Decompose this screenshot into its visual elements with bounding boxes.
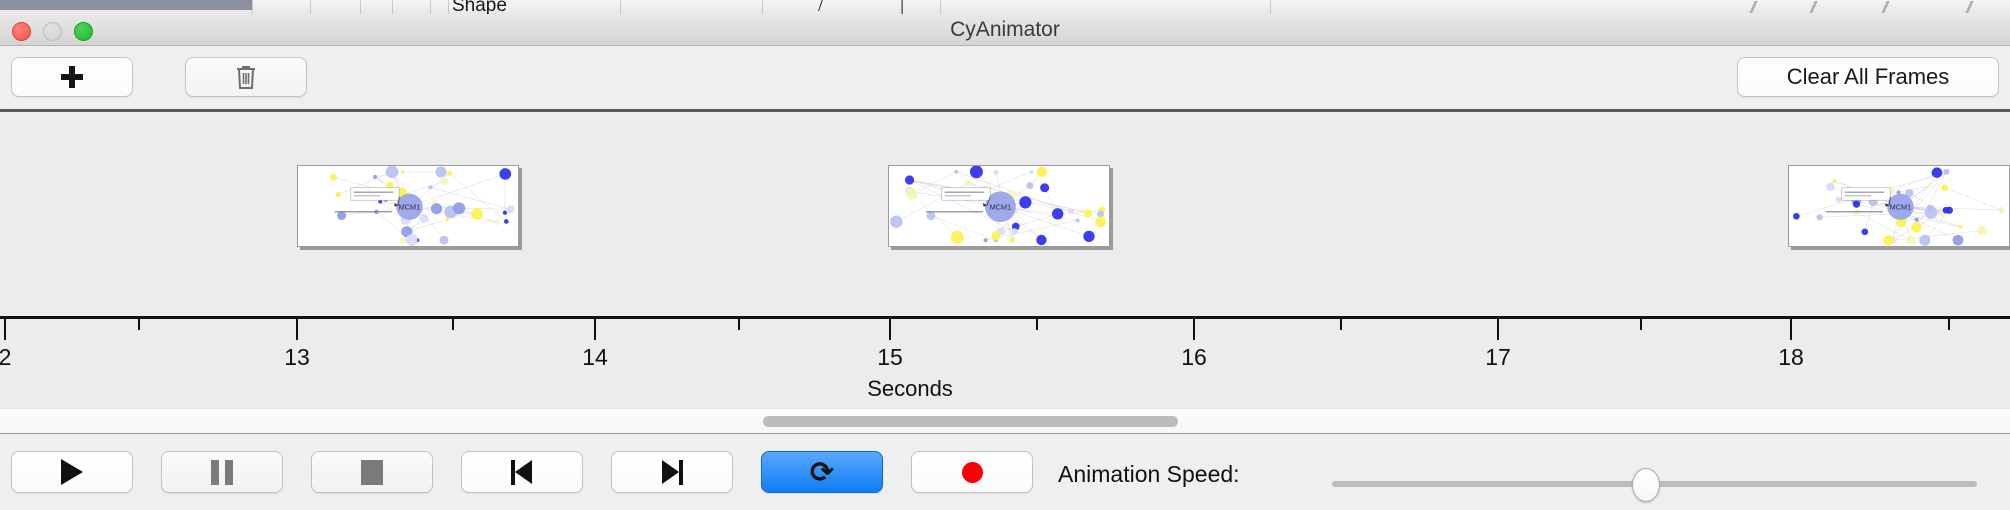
background-window-strip: Shape /| [0, 0, 2010, 14]
background-glyph: | [900, 0, 904, 14]
background-chevron-icon [1881, 1, 1900, 13]
delete-frame-button[interactable] [185, 57, 307, 97]
background-divider [1270, 0, 1271, 14]
svg-text:MCM1: MCM1 [1890, 203, 1912, 212]
clear-all-frames-button[interactable]: Clear All Frames [1737, 57, 1999, 97]
timeline-frame-thumbnail[interactable]: MCM1 [1788, 165, 2010, 247]
ruler-tick [1497, 319, 1499, 340]
background-divider [310, 0, 311, 14]
background-divider [252, 0, 253, 14]
background-divider [762, 0, 763, 14]
ruler-axis-title: Seconds [0, 376, 2010, 402]
ruler-tick [594, 319, 596, 340]
timeline-ruler: 2131415161718 Seconds [0, 316, 2010, 398]
play-icon [61, 459, 83, 485]
pause-icon [211, 460, 233, 485]
cyanimator-window: Shape /| CyAnimator Clear All Frames [0, 0, 2010, 510]
scrollbar-thumb[interactable] [763, 416, 1178, 427]
animation-speed-slider-thumb[interactable] [1632, 468, 1660, 502]
next-frame-button[interactable] [611, 451, 733, 493]
background-divider [940, 0, 941, 14]
svg-text:MCM1: MCM1 [399, 203, 421, 212]
trash-icon [236, 65, 256, 89]
ruler-tick [1640, 319, 1642, 330]
ruler-tick [1193, 319, 1195, 340]
loop-button[interactable]: ⟳ [761, 451, 883, 493]
pause-button[interactable] [161, 451, 283, 493]
animation-speed-label: Animation Speed: [1058, 461, 1240, 488]
ruler-tick [1790, 319, 1792, 340]
playback-control-bar: ⟳ Animation Speed: [0, 435, 2010, 510]
ruler-tick-label: 14 [582, 344, 608, 371]
stop-button[interactable] [311, 451, 433, 493]
ruler-tick-label: 16 [1181, 344, 1207, 371]
ruler-axis-title-text: Seconds [867, 376, 953, 401]
play-button[interactable] [11, 451, 133, 493]
ruler-tick-label: 15 [877, 344, 903, 371]
background-chevron-icon [1749, 1, 1768, 13]
skip-back-icon [511, 460, 533, 485]
record-icon [962, 462, 983, 483]
ruler-tick [1340, 319, 1342, 330]
record-button[interactable] [911, 451, 1033, 493]
add-frame-button[interactable] [11, 57, 133, 97]
window-title: CyAnimator [0, 14, 2010, 46]
ruler-tick [889, 319, 891, 340]
previous-frame-button[interactable] [461, 451, 583, 493]
background-dark-tab [0, 0, 252, 10]
background-divider [360, 0, 361, 14]
toolbar: Clear All Frames [0, 46, 2010, 109]
stop-icon [361, 460, 383, 485]
ruler-tick [296, 319, 298, 340]
ruler-tick-label: 18 [1778, 344, 1804, 371]
background-shape-label: Shape [452, 0, 507, 14]
skip-forward-icon [661, 460, 683, 485]
titlebar: CyAnimator [0, 14, 2010, 46]
background-divider [448, 0, 449, 14]
timeline-track[interactable]: MCM1 MCM1 MCM1 [0, 112, 2010, 316]
plus-icon [61, 66, 83, 88]
clear-all-frames-label: Clear All Frames [1787, 64, 1950, 90]
ruler-tick [738, 319, 740, 330]
timeline-frame-thumbnail[interactable]: MCM1 [888, 165, 1110, 247]
ruler-tick [452, 319, 454, 330]
timeline-horizontal-scrollbar[interactable] [0, 408, 2010, 434]
ruler-tick [1036, 319, 1038, 330]
ruler-tick [4, 319, 6, 340]
ruler-tick-label: 2 [0, 344, 11, 371]
ruler-tick-label: 17 [1485, 344, 1511, 371]
ruler-tick [138, 319, 140, 330]
background-divider [392, 0, 393, 14]
timeline-frame-thumbnail[interactable]: MCM1 [297, 165, 519, 247]
background-glyph: / [818, 0, 824, 14]
ruler-baseline [0, 316, 2010, 319]
background-chevron-icon [1965, 1, 1984, 13]
background-divider [620, 0, 621, 14]
background-divider [430, 0, 431, 14]
ruler-tick-label: 13 [284, 344, 310, 371]
loop-icon: ⟳ [810, 458, 834, 487]
svg-text:MCM1: MCM1 [990, 203, 1012, 212]
background-chevron-icon [1809, 1, 1828, 13]
ruler-tick [1948, 319, 1950, 330]
